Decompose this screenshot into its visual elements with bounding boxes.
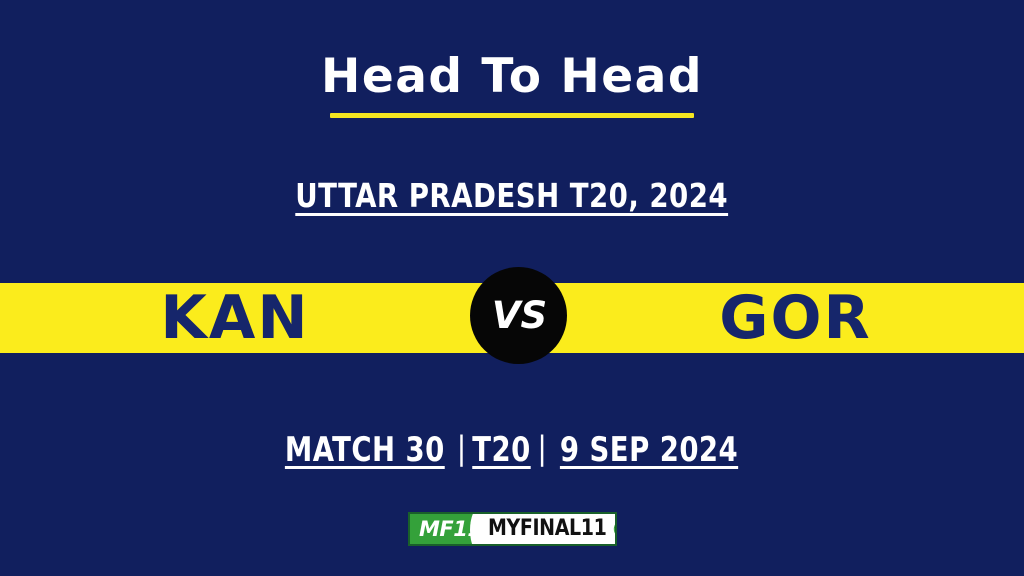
match-info-divider-2: | bbox=[534, 429, 550, 467]
brand-mark-label: MF11 bbox=[419, 519, 481, 540]
match-format-label: T20 bbox=[473, 430, 531, 470]
head-to-head-poster: Head To Head Uttar Pradesh T20, 2024 KAN… bbox=[0, 0, 1024, 576]
brand-wordmark: MYFINAL11 bbox=[488, 518, 606, 540]
title-underline-accent bbox=[330, 113, 694, 118]
match-info-block: Match 30|T20|9 Sep 2024 bbox=[0, 430, 1024, 470]
home-team-code: KAN bbox=[0, 283, 470, 353]
brand-mark: MF11 bbox=[410, 514, 481, 544]
title-block: Head To Head bbox=[0, 52, 1024, 118]
tournament-name: Uttar Pradesh T20, 2024 bbox=[296, 176, 729, 215]
tournament-block: Uttar Pradesh T20, 2024 bbox=[0, 176, 1024, 215]
page-title: Head To Head bbox=[315, 52, 709, 103]
versus-label: VS bbox=[490, 297, 547, 334]
away-team-code: GOR bbox=[567, 283, 1024, 353]
match-date-label: 9 Sep 2024 bbox=[560, 430, 738, 470]
brand-logo: MF11 MYFINAL11 bbox=[408, 512, 617, 546]
match-info-divider-1: | bbox=[454, 429, 470, 467]
match-number-label: Match 30 bbox=[285, 430, 445, 470]
brand-wordmark-wrap: MYFINAL11 bbox=[481, 514, 617, 544]
cricket-ball-icon bbox=[613, 518, 617, 540]
versus-badge: VS bbox=[470, 267, 567, 364]
